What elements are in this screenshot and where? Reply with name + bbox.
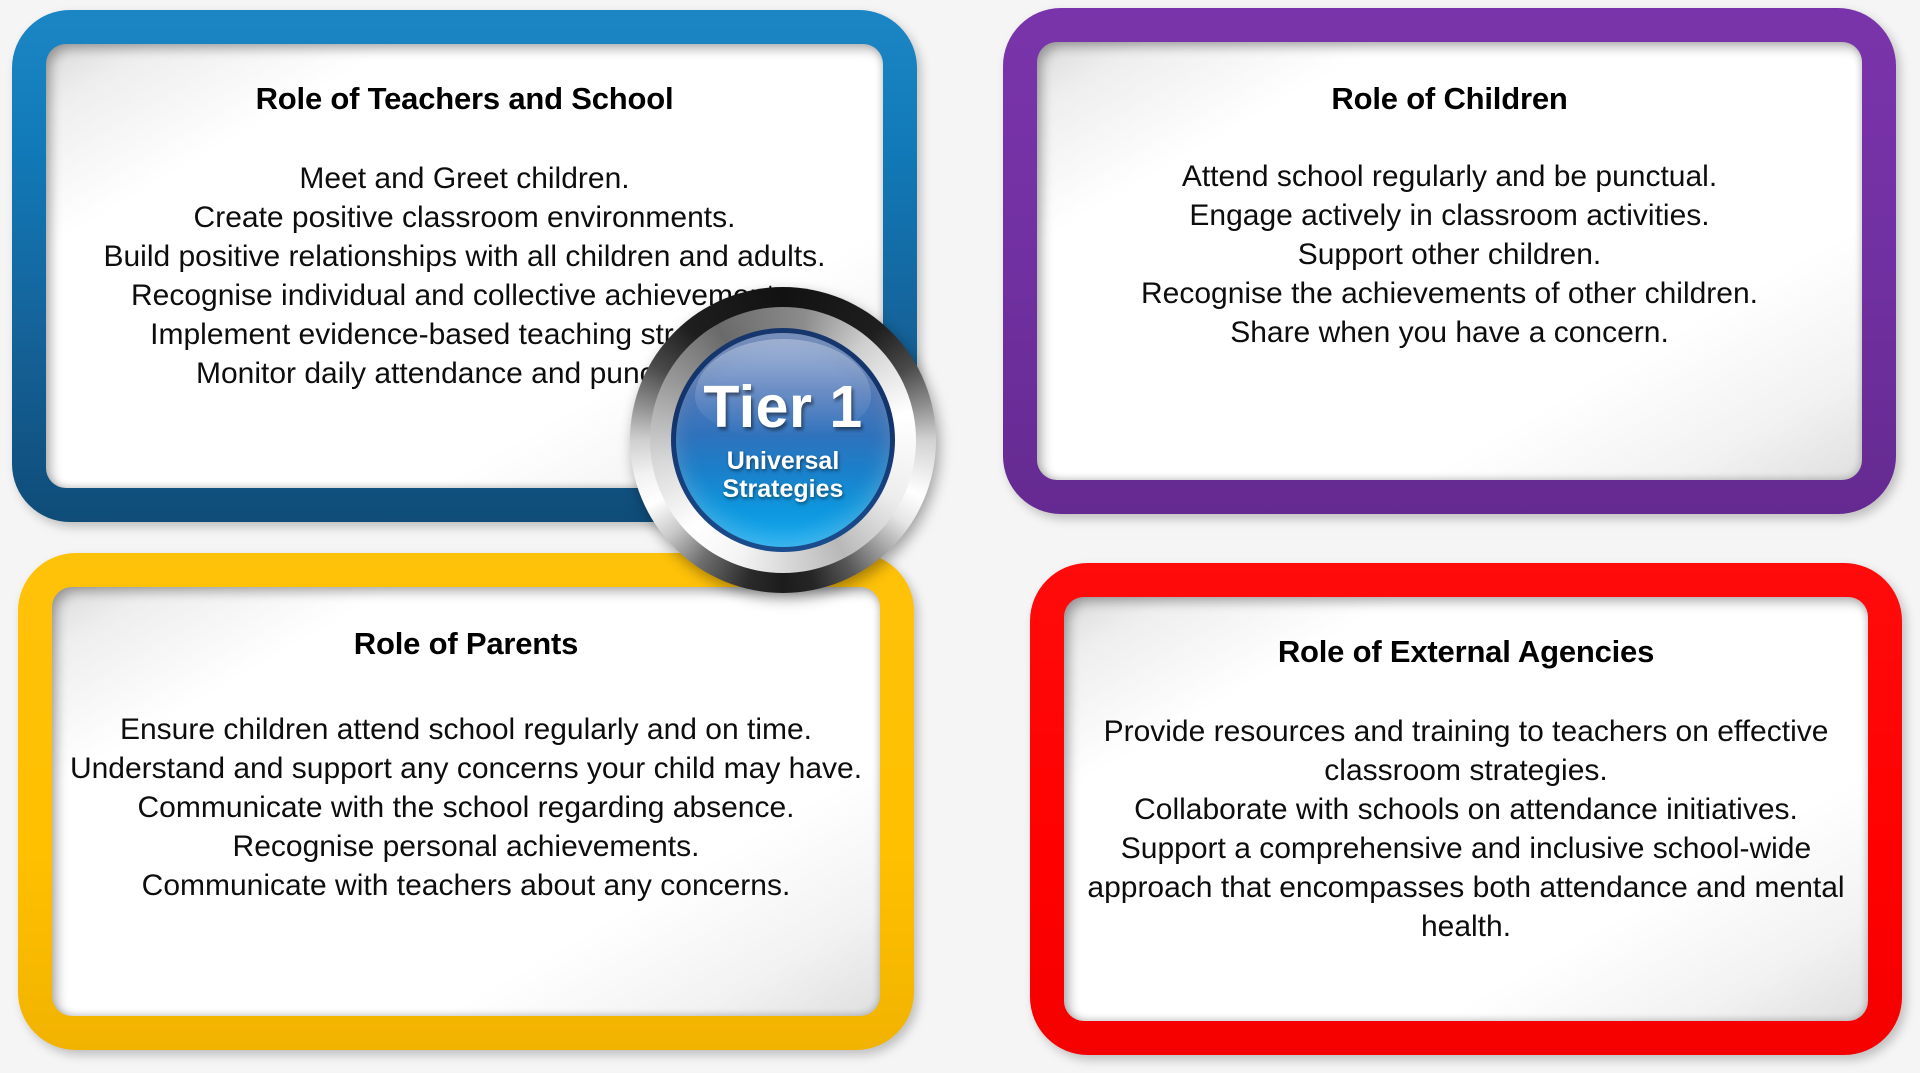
badge-title: Tier 1 — [703, 378, 862, 437]
card-inner-panel: Role of Parents Ensure children attend s… — [52, 587, 880, 1016]
card-title: Role of Teachers and School — [56, 80, 873, 117]
card-title: Role of Parents — [60, 625, 872, 662]
card-content: Role of External Agencies Provide resour… — [1064, 597, 1868, 1021]
card-content: Role of Parents Ensure children attend s… — [52, 587, 880, 1016]
card-body-text: Ensure children attend school regularly … — [60, 710, 872, 905]
badge-subtitle: Universal Strategies — [723, 447, 844, 503]
card-title: Role of Children — [1053, 80, 1846, 117]
badge-face: Tier 1 Universal Strategies — [676, 333, 890, 547]
card-title: Role of External Agencies — [1080, 633, 1852, 670]
card-content: Role of Children Attend school regularly… — [1037, 42, 1862, 480]
diagram-canvas: Role of Teachers and School Meet and Gre… — [0, 0, 1920, 1073]
card-body-text: Provide resources and training to teache… — [1080, 712, 1852, 946]
card-body-text: Attend school regularly and be punctual.… — [1053, 157, 1846, 352]
card-inner-panel: Role of External Agencies Provide resour… — [1064, 597, 1868, 1021]
card-role-of-external-agencies: Role of External Agencies Provide resour… — [1030, 563, 1902, 1055]
card-role-of-children: Role of Children Attend school regularly… — [1003, 8, 1896, 514]
card-role-of-parents: Role of Parents Ensure children attend s… — [18, 553, 914, 1050]
tier-1-center-badge: Tier 1 Universal Strategies — [630, 287, 936, 593]
card-inner-panel: Role of Children Attend school regularly… — [1037, 42, 1862, 480]
